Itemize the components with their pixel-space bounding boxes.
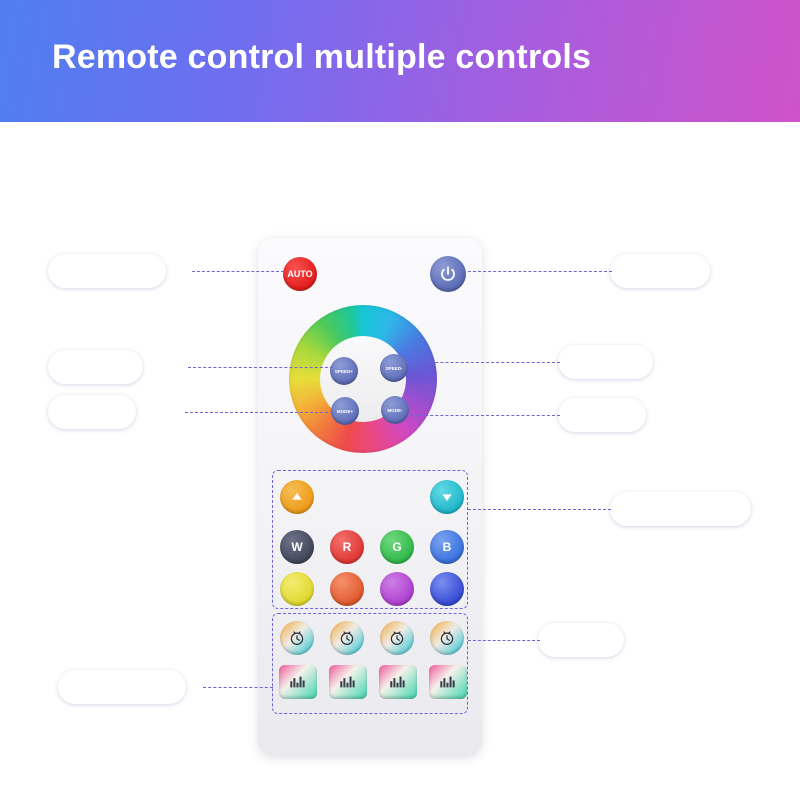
leader-auto-mode	[192, 271, 284, 272]
auto-button[interactable]: AUTO	[283, 257, 317, 291]
chevron-down-icon	[439, 489, 455, 505]
page-title: Remote control multiple controls	[52, 38, 591, 77]
color-purple-button[interactable]	[380, 572, 414, 606]
color-blue-button[interactable]: B	[430, 530, 464, 564]
equalizer-icon	[338, 674, 358, 690]
callout-on-off[interactable]: ON/OFF	[610, 254, 710, 288]
color-yellow-button[interactable]	[280, 572, 314, 606]
equalizer-icon	[438, 674, 458, 690]
clock-icon	[338, 629, 356, 647]
music-3-button[interactable]	[379, 665, 417, 699]
color-white-button[interactable]: W	[280, 530, 314, 564]
music-2-button[interactable]	[329, 665, 367, 699]
speed-minus-button[interactable]: SPEED-	[380, 354, 408, 382]
callout-speed-minus[interactable]: Speed−	[558, 345, 653, 379]
color-green-button[interactable]: G	[380, 530, 414, 564]
speed-plus-button[interactable]: SPEED+	[330, 357, 358, 385]
callout-mode-plus[interactable]: Mode+	[48, 395, 136, 429]
header-banner: Remote control multiple controls	[0, 0, 800, 122]
clock-icon	[388, 629, 406, 647]
chevron-up-icon	[289, 489, 305, 505]
leader-change-color	[468, 509, 611, 510]
color-orange-button[interactable]	[330, 572, 364, 606]
music-1-button[interactable]	[279, 665, 317, 699]
timer-3-button[interactable]	[380, 621, 414, 655]
leader-speed-minus	[410, 362, 560, 363]
leader-mode-minus	[410, 415, 560, 416]
music-4-button[interactable]	[429, 665, 467, 699]
leader-music-mode	[203, 687, 273, 688]
leader-mode-plus	[185, 412, 333, 413]
callout-music-mode[interactable]: Music Mode	[58, 670, 186, 704]
callout-change-color[interactable]: Change Color	[610, 492, 751, 526]
timer-2-button[interactable]	[330, 621, 364, 655]
clock-icon	[288, 629, 306, 647]
timer-1-button[interactable]	[280, 621, 314, 655]
power-icon	[439, 265, 457, 283]
mode-minus-button[interactable]: MODE-	[381, 396, 409, 424]
callout-timing[interactable]: Timing	[538, 623, 624, 657]
equalizer-icon	[388, 674, 408, 690]
leader-timing	[468, 640, 540, 641]
color-red-button[interactable]: R	[330, 530, 364, 564]
brightness-up-button[interactable]	[280, 480, 314, 514]
callout-speed-plus[interactable]: Speed+	[48, 350, 143, 384]
mode-plus-button[interactable]: MODE+	[331, 397, 359, 425]
color-indigo-button[interactable]	[430, 572, 464, 606]
brightness-down-button[interactable]	[430, 480, 464, 514]
callout-mode-minus[interactable]: Mode−	[558, 398, 646, 432]
power-button[interactable]	[430, 256, 466, 292]
leader-speed-plus	[188, 367, 333, 368]
equalizer-icon	[288, 674, 308, 690]
clock-icon	[438, 629, 456, 647]
leader-on-off	[468, 271, 612, 272]
timer-4-button[interactable]	[430, 621, 464, 655]
callout-auto-mode[interactable]: Auto Mode	[48, 254, 166, 288]
